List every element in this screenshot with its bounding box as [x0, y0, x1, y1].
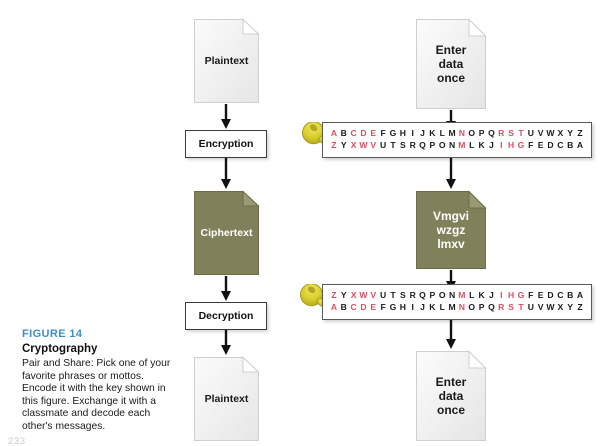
cipher-letter: S	[398, 289, 408, 301]
document-label: Plaintext	[205, 54, 249, 68]
cipher-letter: A	[575, 289, 585, 301]
cipher-row-plain: ABCDEFGHIJKLMNOPQRSTUVWXYZ	[329, 127, 585, 139]
cipher-letter: Y	[565, 301, 575, 313]
cipher-letter: U	[526, 301, 536, 313]
cipher-letter: H	[398, 301, 408, 313]
cipher-letter: X	[349, 289, 359, 301]
cipher-letter: A	[329, 127, 339, 139]
cipher-letter: H	[506, 289, 516, 301]
cipher-letter: I	[408, 301, 418, 313]
cipher-letter: F	[526, 139, 536, 151]
figure-title: Cryptography	[22, 342, 174, 357]
document-plaintext-bottom: Plaintext	[193, 356, 260, 442]
figure-description: Pair and Share: Pick one of your favorit…	[22, 358, 174, 434]
cipher-letter: O	[437, 289, 447, 301]
cipher-letter: C	[555, 139, 565, 151]
cipher-letter: Y	[339, 289, 349, 301]
cipher-letter: Z	[329, 139, 339, 151]
cipher-letter: Q	[487, 301, 497, 313]
arrow-encryption-to-ciphertext	[220, 158, 232, 190]
cipher-letter: M	[457, 139, 467, 151]
cipher-letter: C	[349, 127, 359, 139]
cipher-letter: G	[388, 301, 398, 313]
cipher-letter: D	[359, 301, 369, 313]
document-label: Ciphertext	[201, 226, 253, 240]
cipher-letter: J	[487, 139, 497, 151]
cipher-letter: X	[555, 301, 565, 313]
cipher-letter: O	[467, 127, 477, 139]
document-enter-data-bottom: Enterdataonce	[415, 350, 487, 442]
cipher-letter: O	[467, 301, 477, 313]
cipher-letter: L	[437, 127, 447, 139]
arrow-decryption-to-plaintext	[220, 330, 232, 356]
cipher-table-encrypt: ABCDEFGHIJKLMNOPQRSTUVWXYZ ZYXWVUTSRQPON…	[322, 122, 592, 158]
cipher-letter: K	[477, 289, 487, 301]
document-plaintext-top: Plaintext	[193, 18, 260, 104]
cipher-letter: M	[447, 301, 457, 313]
cipher-letter: Q	[418, 289, 428, 301]
cipher-letter: G	[516, 289, 526, 301]
document-enter-data-top: Enterdataonce	[415, 18, 487, 110]
document-label: Plaintext	[205, 392, 249, 406]
document-label: Enterdataonce	[436, 375, 467, 417]
cipher-letter: N	[457, 301, 467, 313]
cipher-row-cipher: ZYXWVUTSRQPONMLKJIHGFEDCBA	[329, 139, 585, 151]
cipher-row-cipher: ZYXWVUTSRQPONMLKJIHGFEDCBA	[329, 289, 585, 301]
cipher-letter: K	[477, 139, 487, 151]
cipher-letter: F	[378, 127, 388, 139]
cipher-letter: S	[506, 301, 516, 313]
document-label: Vmgviwzgzlmxv	[433, 209, 469, 251]
cipher-row-plain: ABCDEFGHIJKLMNOPQRSTUVWXYZ	[329, 301, 585, 313]
cipher-letter: N	[457, 127, 467, 139]
cipher-letter: L	[467, 289, 477, 301]
cipher-letter: T	[388, 139, 398, 151]
cipher-letter: O	[437, 139, 447, 151]
cipher-letter: M	[457, 289, 467, 301]
arrow-ciphertext-to-decryption	[220, 276, 232, 302]
cipher-letter: Z	[329, 289, 339, 301]
cipher-letter: S	[398, 139, 408, 151]
cipher-letter: C	[349, 301, 359, 313]
cipher-letter: Z	[575, 127, 585, 139]
cipher-letter: V	[536, 127, 546, 139]
cipher-letter: W	[359, 139, 369, 151]
cipher-letter: I	[496, 139, 506, 151]
cipher-letter: W	[546, 301, 556, 313]
cipher-letter: F	[526, 289, 536, 301]
cipher-letter: L	[467, 139, 477, 151]
cipher-letter: V	[368, 139, 378, 151]
cipher-letter: F	[378, 301, 388, 313]
figure-label: FIGURE 14	[22, 327, 174, 341]
cipher-letter: P	[427, 289, 437, 301]
cipher-table-decrypt: ZYXWVUTSRQPONMLKJIHGFEDCBA ABCDEFGHIJKLM…	[322, 284, 592, 320]
cipher-letter: X	[349, 139, 359, 151]
cipher-letter: B	[339, 127, 349, 139]
cipher-letter: T	[516, 127, 526, 139]
document-encrypted-output: Vmgviwzgzlmxv	[415, 190, 487, 270]
document-ciphertext: Ciphertext	[193, 190, 260, 276]
cipher-letter: U	[378, 289, 388, 301]
cipher-letter: A	[575, 139, 585, 151]
cipher-letter: N	[447, 289, 457, 301]
cipher-letter: K	[427, 127, 437, 139]
cipher-letter: K	[427, 301, 437, 313]
cipher-letter: P	[477, 301, 487, 313]
cipher-letter: Q	[487, 127, 497, 139]
document-label: Enterdataonce	[436, 43, 467, 85]
cipher-letter: P	[427, 139, 437, 151]
cipher-letter: I	[408, 127, 418, 139]
cipher-letter: V	[536, 301, 546, 313]
cipher-letter: E	[536, 139, 546, 151]
cipher-letter: L	[437, 301, 447, 313]
cipher-letter: A	[329, 301, 339, 313]
cipher-letter: J	[418, 127, 428, 139]
figure-caption: FIGURE 14 Cryptography Pair and Share: P…	[22, 327, 174, 434]
cipher-letter: D	[546, 289, 556, 301]
cipher-letter: H	[398, 127, 408, 139]
cipher-letter: G	[516, 139, 526, 151]
arrow-plaintext-to-encryption	[220, 104, 232, 130]
cipher-letter: E	[536, 289, 546, 301]
cipher-letter: D	[359, 127, 369, 139]
cipher-letter: E	[368, 301, 378, 313]
cipher-letter: S	[506, 127, 516, 139]
cipher-letter: N	[447, 139, 457, 151]
cipher-letter: T	[516, 301, 526, 313]
arrow-encrypt-key-to-ciphertext	[445, 158, 457, 190]
cipher-letter: J	[487, 289, 497, 301]
cipher-letter: H	[506, 139, 516, 151]
cipher-letter: B	[339, 301, 349, 313]
process-box-decryption: Decryption	[185, 302, 267, 330]
cipher-letter: Y	[339, 139, 349, 151]
cipher-letter: D	[546, 139, 556, 151]
cipher-letter: B	[565, 289, 575, 301]
cipher-letter: P	[477, 127, 487, 139]
cipher-letter: G	[388, 127, 398, 139]
cipher-letter: I	[496, 289, 506, 301]
cipher-letter: M	[447, 127, 457, 139]
cipher-letter: R	[408, 139, 418, 151]
cipher-letter: Z	[575, 301, 585, 313]
cipher-letter: T	[388, 289, 398, 301]
cipher-letter: E	[368, 127, 378, 139]
cipher-letter: U	[378, 139, 388, 151]
arrow-decrypt-key-to-enterdata	[445, 320, 457, 350]
cipher-letter: B	[565, 139, 575, 151]
process-box-encryption: Encryption	[185, 130, 267, 158]
cipher-letter: J	[418, 301, 428, 313]
cipher-letter: Y	[565, 127, 575, 139]
cipher-letter: Q	[418, 139, 428, 151]
cipher-letter: R	[496, 301, 506, 313]
cipher-letter: U	[526, 127, 536, 139]
cipher-letter: W	[546, 127, 556, 139]
cipher-letter: V	[368, 289, 378, 301]
cipher-letter: R	[408, 289, 418, 301]
cipher-letter: W	[359, 289, 369, 301]
cipher-letter: C	[555, 289, 565, 301]
cipher-letter: R	[496, 127, 506, 139]
cipher-letter: X	[555, 127, 565, 139]
